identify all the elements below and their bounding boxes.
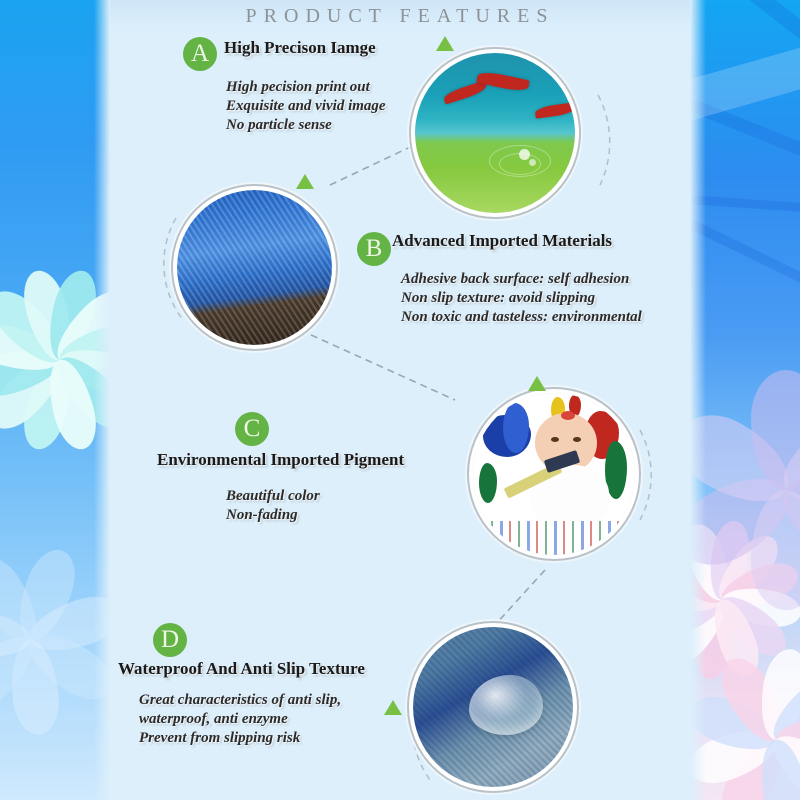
feature-line: High pecision print out <box>226 78 386 97</box>
fish-shape <box>442 80 487 104</box>
arrow-to-photo-c <box>528 376 546 391</box>
feature-heading-c: Environmental Imported Pigment <box>157 450 404 470</box>
photo-baby-painting <box>473 393 635 555</box>
feature-photo-c <box>473 393 635 555</box>
flower-petal <box>786 490 800 610</box>
feature-line: Exquisite and vivid image <box>226 97 386 116</box>
left-border-fade <box>94 0 110 800</box>
feature-photo-d <box>413 627 573 787</box>
photo-blue-fabric-texture <box>177 190 332 345</box>
feature-line: Beautiful color <box>226 487 320 506</box>
feature-line: No particle sense <box>226 116 386 135</box>
ribbon-stripe <box>690 30 800 129</box>
left-decorative-border <box>0 0 110 800</box>
feature-heading-d: Waterproof And Anti Slip Texture <box>118 659 365 679</box>
right-decorative-border <box>690 0 800 800</box>
fish-shape <box>534 102 575 118</box>
water-droplet <box>469 675 543 735</box>
water-bead <box>519 149 530 160</box>
product-features-infographic: PRODUCT FEATURES <box>0 0 800 800</box>
feature-line: Non slip texture: avoid slipping <box>401 289 642 308</box>
feature-badge-b: B <box>357 232 391 266</box>
painted-paper <box>473 521 635 555</box>
feature-photo-a <box>415 53 575 213</box>
flower-petal <box>776 736 800 800</box>
paint-dot <box>561 411 575 420</box>
page-title: PRODUCT FEATURES <box>110 5 690 28</box>
feature-lines-a: High pecision print out Exquisite and vi… <box>226 78 386 135</box>
feature-line: Adhesive back surface: self adhesion <box>401 270 642 289</box>
feature-heading-a: High Precison Iamge <box>224 38 376 58</box>
feature-line: waterproof, anti enzyme <box>139 710 341 729</box>
connector-lines <box>0 0 800 800</box>
baby-eye <box>551 437 559 442</box>
feature-line: Non toxic and tasteless: environmental <box>401 308 642 327</box>
arrow-to-photo-d <box>384 700 402 715</box>
photo-water-droplet-texture <box>413 627 573 787</box>
feature-badge-c: C <box>235 412 269 446</box>
feature-lines-d: Great characteristics of anti slip, wate… <box>139 691 341 748</box>
right-border-fade <box>690 0 706 800</box>
feature-lines-b: Adhesive back surface: self adhesion Non… <box>401 270 642 327</box>
feature-line: Prevent from slipping risk <box>139 729 341 748</box>
feature-badge-a: A <box>183 37 217 71</box>
water-bead <box>529 159 536 166</box>
baby-eye <box>573 437 581 442</box>
photo-water-lilypad-fish <box>415 53 575 213</box>
feature-photo-b <box>177 190 332 345</box>
fish-shape <box>476 70 530 94</box>
flower-petal <box>0 559 30 652</box>
arrow-to-photo-a <box>436 36 454 51</box>
paint-splash <box>479 463 497 503</box>
feature-badge-d: D <box>153 623 187 657</box>
feature-line: Non-fading <box>226 506 320 525</box>
ribbon-stripe <box>690 209 800 310</box>
arrow-to-photo-b <box>296 174 314 189</box>
ribbon-stripe <box>690 192 800 216</box>
feature-heading-b: Advanced Imported Materials <box>392 231 612 251</box>
feature-line: Great characteristics of anti slip, <box>139 691 341 710</box>
feature-lines-c: Beautiful color Non-fading <box>226 487 320 525</box>
